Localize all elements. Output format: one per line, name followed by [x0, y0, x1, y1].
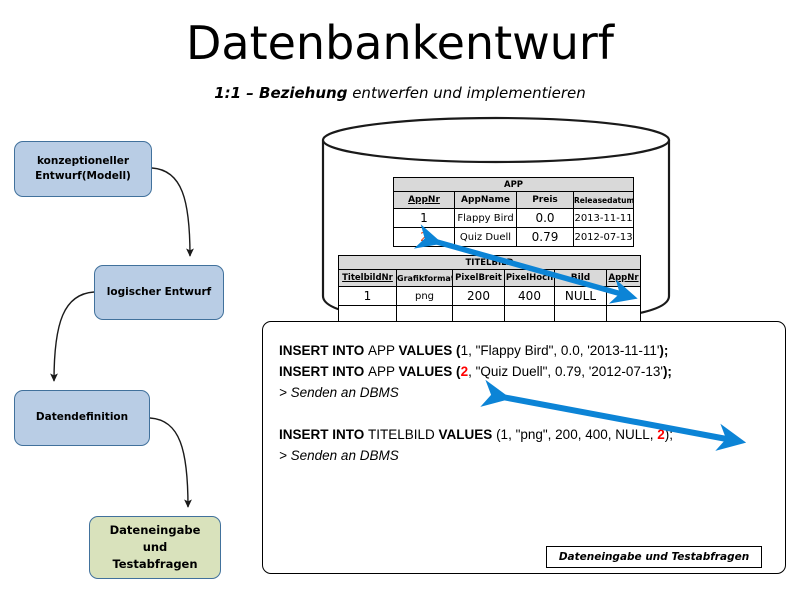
cell-preis: 0.0 [517, 209, 574, 228]
page-title: Datenbankentwurf [0, 18, 800, 69]
cell-releasedatum: 2013-11-11 [574, 209, 634, 228]
cell-grafikformat: png [397, 287, 453, 306]
cell-pixelhoch: 400 [505, 287, 555, 306]
flow-step-label: Dateneingabe und Testabfragen [96, 522, 214, 572]
flow-arrow-3 [150, 418, 188, 507]
flow-step-label: logischer Entwurf [107, 285, 211, 300]
flow-step-dateneingabe-testabfragen[interactable]: Dateneingabe und Testabfragen [89, 516, 221, 579]
cell-appnr: 1 [394, 209, 455, 228]
table-header-row: TitelbildNr Grafikformat PixelBreit Pixe… [339, 270, 641, 287]
sql-line: INSERT INTO APP VALUES (2, "Quiz Duell",… [279, 361, 779, 382]
flow-step-konzeptioneller-entwurf[interactable]: konzeptioneller Entwurf(Modell) [14, 141, 152, 197]
flow-step-label: konzeptioneller Entwurf(Modell) [35, 154, 131, 184]
cell-titelbildnr: 1 [339, 287, 397, 306]
column-header-pixelhoch: PixelHoch [505, 270, 555, 287]
table-header-row: AppNr AppName Preis Releasedatum [394, 192, 634, 209]
sql-panel-caption: Dateneingabe und Testabfragen [546, 546, 762, 568]
flow-step-label-line1: Dateneingabe und [110, 523, 201, 554]
column-header-titelbildnr: TitelbildNr [339, 270, 397, 287]
cell-appname: Quiz Duell [455, 228, 517, 247]
subtitle-rest: entwerfen und implementieren [347, 84, 585, 102]
column-header-appnr: AppNr [607, 270, 641, 287]
page-subtitle: 1:1 – Beziehung entwerfen und implementi… [0, 84, 800, 102]
cell-pixelbreit: 200 [453, 287, 505, 306]
flow-arrow-1 [152, 168, 190, 256]
cell-releasedatum: 2012-07-13 [574, 228, 634, 247]
sql-comment: > Senden an DBMS [279, 382, 779, 403]
caption-label: Dateneingabe und Testabfragen [559, 551, 749, 563]
table-row: 1 Flappy Bird 0.0 2013-11-11 [394, 209, 634, 228]
table-app: APP AppNr AppName Preis Releasedatum 1 F… [393, 177, 634, 247]
flow-step-label-line2: Testabfragen [112, 557, 197, 571]
column-header-pixelbreit: PixelBreit [453, 270, 505, 287]
cell-appname: Flappy Bird [455, 209, 517, 228]
flow-step-label: Datendefinition [36, 410, 128, 425]
flow-arrow-2 [54, 292, 94, 381]
column-header-preis: Preis [517, 192, 574, 209]
flow-step-logischer-entwurf[interactable]: logischer Entwurf [94, 265, 224, 320]
subtitle-emphasis: 1:1 – Beziehung [214, 84, 347, 102]
table-title-row: APP [394, 178, 634, 192]
column-header-appnr: AppNr [394, 192, 455, 209]
slide-canvas: Datenbankentwurf 1:1 – Beziehung entwerf… [0, 0, 800, 600]
column-header-appname: AppName [455, 192, 517, 209]
table-row: 1 png 200 400 NULL 2 [339, 287, 641, 306]
table-name-app: APP [394, 178, 634, 192]
column-header-bild: Bild [555, 270, 607, 287]
cell-bild: NULL [555, 287, 607, 306]
sql-blank-line [279, 403, 779, 424]
sql-line: INSERT INTO TITELBILD VALUES (1, "png", … [279, 424, 779, 445]
table-titelbild: TITELBILD TitelbildNr Grafikformat Pixel… [338, 255, 641, 324]
cell-appnr-highlight: 2 [607, 287, 641, 306]
column-header-grafikformat: Grafikformat [397, 270, 453, 287]
flow-step-datendefinition[interactable]: Datendefinition [14, 390, 150, 446]
sql-statement-list: INSERT INTO APP VALUES (1, "Flappy Bird"… [279, 340, 779, 466]
cell-preis: 0.79 [517, 228, 574, 247]
flow-step-label-line2: Entwurf(Modell) [35, 170, 131, 182]
sql-comment: > Senden an DBMS [279, 445, 779, 466]
table-name-titelbild: TITELBILD [339, 256, 641, 270]
column-header-releasedatum: Releasedatum [574, 192, 634, 209]
cell-appnr-highlight: 2 [394, 228, 455, 247]
table-row: 2 Quiz Duell 0.79 2012-07-13 [394, 228, 634, 247]
table-title-row: TITELBILD [339, 256, 641, 270]
sql-line: INSERT INTO APP VALUES (1, "Flappy Bird"… [279, 340, 779, 361]
flow-step-label-line1: konzeptioneller [37, 155, 129, 167]
